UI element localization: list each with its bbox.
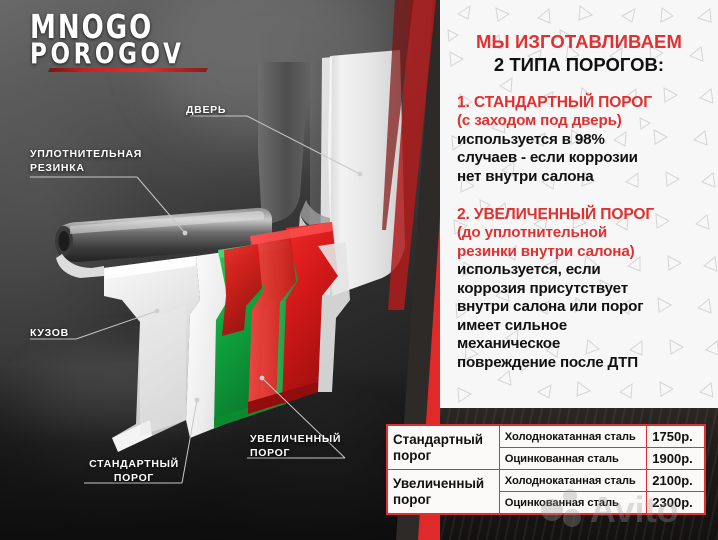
label-seal-line1: УПЛОТНИТЕЛЬНАЯ [30, 148, 142, 162]
block1-body-line3: нет внутри салона [457, 168, 709, 187]
label-seal: УПЛОТНИТЕЛЬНАЯ РЕЗИНКА [30, 148, 142, 175]
block1-body-line1: используется в 98% [457, 131, 709, 150]
advertisement-image: ДВЕРЬ УПЛОТНИТЕЛЬНАЯ РЕЗИНКА КУЗОВ СТАНД… [0, 0, 718, 540]
cat-extended-line1: Увеличенный [393, 476, 494, 492]
panel-block-extended: 2. УВЕЛИЧЕННЫЙ ПОРОГ (до уплотнительной … [457, 205, 709, 372]
cell-category-standard: Стандартный порог [387, 425, 499, 470]
cat-extended-line2: порог [393, 492, 494, 508]
label-extended-line2: ПОРОГ [250, 447, 346, 461]
block2-body-line2: коррозия присутствует [457, 280, 709, 299]
cat-standard-line2: порог [393, 448, 494, 464]
block2-body-line1: используется, если [457, 261, 709, 280]
label-extended-line1: УВЕЛИЧЕННЫЙ [250, 433, 346, 447]
block2-subtitle-line2: резинки внутри салона) [457, 243, 709, 262]
label-seal-line2: РЕЗИНКА [30, 162, 142, 176]
block2-title: 2. УВЕЛИЧЕННЫЙ ПОРОГ [457, 205, 709, 224]
panel-block-standard: 1. СТАНДАРТНЫЙ ПОРОГ (с заходом под двер… [457, 93, 709, 186]
cell-material-r1: Холоднокатанная сталь [499, 425, 647, 448]
block2-body-line3: внутри салона или порог [457, 298, 709, 317]
label-standard-line1: СТАНДАРТНЫЙ [88, 458, 180, 472]
table-row: Увеличенный порог Холоднокатанная сталь … [387, 470, 705, 492]
block2-body-line4: имеет сильное [457, 317, 709, 336]
cat-standard-line1: Стандартный [393, 432, 494, 448]
block1-title: 1. СТАНДАРТНЫЙ ПОРОГ [457, 93, 709, 112]
table-row: Стандартный порог Холоднокатанная сталь … [387, 425, 705, 448]
cell-material-r2: Оцинкованная сталь [499, 448, 647, 470]
block2-body-line5: механическое [457, 335, 709, 354]
cell-price-r4: 2300р. [647, 492, 705, 515]
cell-price-r3: 2100р. [647, 470, 705, 492]
cell-material-r4: Оцинкованная сталь [499, 492, 647, 515]
label-standard-sill: СТАНДАРТНЫЙ ПОРОГ [88, 458, 180, 485]
cell-price-r2: 1900р. [647, 448, 705, 470]
block1-body-line2: случаев - если коррозии [457, 149, 709, 168]
cell-material-r3: Холоднокатанная сталь [499, 470, 647, 492]
label-body: КУЗОВ [30, 327, 69, 340]
block1-subtitle: (с заходом под дверь) [457, 112, 709, 131]
label-standard-line2: ПОРОГ [88, 472, 180, 486]
logo-red-slash [48, 68, 208, 72]
block2-body-line6: повреждение после ДТП [457, 354, 709, 373]
block2-subtitle-line1: (до уплотнительной [457, 224, 709, 243]
cell-price-r1: 1750р. [647, 425, 705, 448]
brand-logo: MNOGO POROGOV [30, 14, 210, 76]
label-extended-sill: УВЕЛИЧЕННЫЙ ПОРОГ [250, 433, 346, 460]
panel-heading-red: МЫ ИЗГОТАВЛИВАЕМ [444, 31, 714, 53]
logo-line-porogov: POROGOV [30, 42, 210, 67]
cell-category-extended: Увеличенный порог [387, 470, 499, 515]
price-table: Стандартный порог Холоднокатанная сталь … [386, 424, 706, 515]
label-door: ДВЕРЬ [186, 104, 226, 117]
panel-heading-black: 2 ТИПА ПОРОГОВ: [444, 54, 714, 76]
